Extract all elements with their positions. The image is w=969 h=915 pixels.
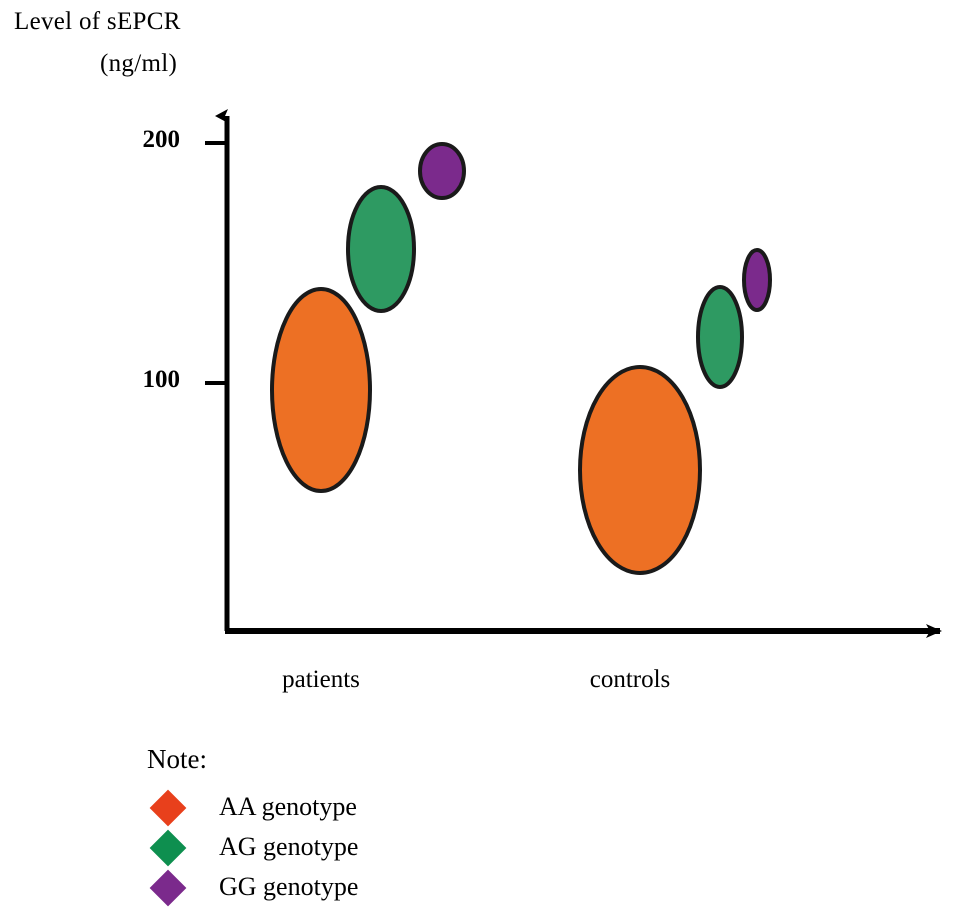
data-ellipse-patients-ag[interactable] [348, 187, 414, 311]
legend-item-ag[interactable]: AG genotype [147, 828, 358, 868]
x-axis-category-controls: controls [545, 666, 715, 694]
chart-figure: Level of sEPCR (ng/ml) 200 100 patients … [0, 0, 969, 915]
data-ellipse-controls-gg[interactable] [744, 250, 770, 310]
legend-item-label-ag: AG genotype [219, 834, 358, 860]
diamond-marker-icon-aa [150, 790, 187, 827]
legend-note-label: Note: [147, 744, 207, 775]
legend-item-label-gg: GG genotype [219, 874, 358, 900]
x-axis-category-patients: patients [236, 666, 406, 694]
legend-item-label-aa: AA genotype [219, 794, 357, 820]
plot-area [0, 0, 969, 915]
legend-item-gg[interactable]: GG genotype [147, 868, 358, 908]
data-ellipse-controls-aa[interactable] [580, 367, 700, 573]
data-ellipse-controls-ag[interactable] [698, 287, 742, 387]
diamond-marker-icon-ag [150, 830, 187, 867]
data-ellipse-patients-aa[interactable] [272, 289, 370, 491]
diamond-marker-icon-gg [150, 870, 187, 907]
data-ellipse-patients-gg[interactable] [420, 144, 464, 198]
legend-item-aa[interactable]: AA genotype [147, 788, 357, 828]
